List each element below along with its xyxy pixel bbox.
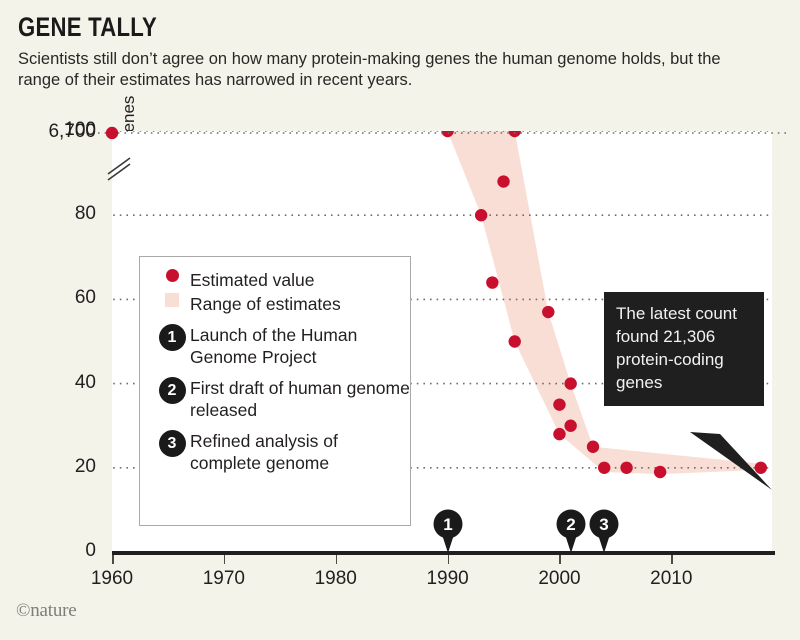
x-tick-label-2010: 2010: [650, 568, 692, 590]
badge-1-label: 1: [159, 324, 186, 351]
data-point-6: [509, 335, 521, 347]
data-point-3: [486, 276, 498, 288]
legend-item-estimated-value: Estimated value: [140, 269, 410, 291]
y-tick-label-40: 40: [0, 372, 96, 394]
axis-break-icon: [104, 152, 138, 182]
legend-item-annotation-2: 2 First draft of human genome released: [140, 377, 410, 421]
callout-annotation: The latest count found 21,306 protein-co…: [604, 292, 764, 406]
data-point-8: [553, 398, 565, 410]
x-tick-1990: [448, 555, 450, 564]
x-tick-1960: [112, 555, 114, 564]
legend-label-annotation-3: Refined analysis of complete genome: [190, 430, 410, 474]
x-tick-label-1990: 1990: [426, 568, 468, 590]
annotation-pin-1: 1: [433, 509, 463, 549]
x-tick-2000: [559, 555, 561, 564]
legend-item-range-of-estimates: Range of estimates: [140, 293, 410, 315]
data-point-12: [587, 441, 599, 453]
x-tick-1980: [336, 555, 338, 564]
legend-item-annotation-1: 1 Launch of the Human Genome Project: [140, 324, 410, 368]
legend-item-annotation-3: 3 Refined analysis of complete genome: [140, 430, 410, 474]
badge-1-icon: 1: [154, 324, 190, 351]
data-point-4: [497, 175, 509, 187]
y-tick-label-0: 0: [0, 540, 96, 562]
data-point-16: [755, 462, 767, 474]
pin-2-icon: 2: [556, 509, 586, 553]
data-point-15: [654, 466, 666, 478]
data-point-13: [598, 462, 610, 474]
data-point-14: [620, 462, 632, 474]
y-tick-label-6700: 6,700: [0, 121, 96, 143]
legend-label-annotation-1: Launch of the Human Genome Project: [190, 324, 410, 368]
badge-3-label: 3: [159, 430, 186, 457]
data-point-10: [564, 377, 576, 389]
pin-1-icon: 1: [433, 509, 463, 553]
nature-credit: ©nature: [16, 600, 77, 622]
legend-label-range-of-estimates: Range of estimates: [190, 293, 341, 315]
x-tick-label-2000: 2000: [538, 568, 580, 590]
x-tick-2010: [671, 555, 673, 564]
page-title: GENE TALLY: [18, 12, 641, 43]
legend: Estimated value Range of estimates 1 Lau…: [139, 256, 411, 526]
legend-label-annotation-2: First draft of human genome released: [190, 377, 410, 421]
data-point-9: [553, 428, 565, 440]
y-tick-label-20: 20: [0, 456, 96, 478]
x-tick-1970: [224, 555, 226, 564]
annotation-pin-3: 3: [589, 509, 619, 549]
x-tick-label-1970: 1970: [203, 568, 245, 590]
data-point-7: [542, 306, 554, 318]
x-tick-label-1960: 1960: [91, 568, 133, 590]
legend-label-estimated-value: Estimated value: [190, 269, 315, 291]
y-tick-label-60: 60: [0, 287, 96, 309]
pink-swatch-icon: [154, 293, 190, 307]
x-tick-label-1980: 1980: [315, 568, 357, 590]
broken-axis-gridline: [98, 124, 798, 144]
red-dot-icon: [154, 269, 190, 282]
badge-3-icon: 3: [154, 430, 190, 457]
svg-text:2: 2: [566, 515, 575, 534]
svg-text:3: 3: [599, 515, 608, 534]
annotation-pin-2: 2: [556, 509, 586, 549]
data-point-2: [475, 209, 487, 221]
y-tick-label-80: 80: [0, 203, 96, 225]
svg-text:1: 1: [443, 515, 452, 534]
badge-2-icon: 2: [154, 377, 190, 404]
data-point-11: [564, 420, 576, 432]
data-point-0: [106, 127, 118, 139]
badge-2-label: 2: [159, 377, 186, 404]
pin-3-icon: 3: [589, 509, 619, 553]
